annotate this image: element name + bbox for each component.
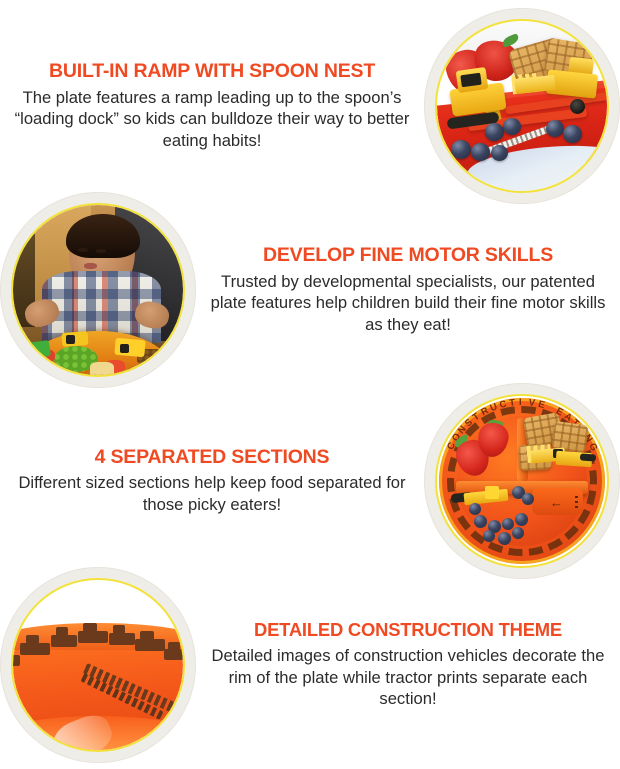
bulldozer-window-icon (460, 72, 481, 87)
scene-plate-rim (13, 580, 183, 750)
construction-vehicle-icon (109, 633, 135, 645)
construction-vehicle-icon (78, 631, 108, 643)
blueberry-icon (502, 518, 514, 530)
child-eating-photo (0, 192, 196, 388)
feature-headline: DEVELOP FINE MOTOR SKILLS (202, 245, 614, 267)
plate-brand-letter: C (498, 398, 508, 411)
scene-ramp (437, 21, 607, 191)
photo-image (13, 205, 183, 375)
blueberry-icon (512, 527, 524, 539)
plate-rim-photo (0, 567, 196, 763)
blueberry-icon (522, 493, 534, 505)
dots-icon (575, 495, 578, 508)
plate-ramp-photo (424, 8, 620, 204)
blueberry-icon (546, 120, 564, 137)
blueberry-icon (485, 123, 504, 141)
construction-vehicle-icon (164, 649, 183, 660)
photo-yellow-ring (435, 19, 609, 193)
feature-copy: DEVELOP FINE MOTOR SKILLS Trusted by dev… (196, 245, 620, 336)
arrow-icon: ← (550, 496, 563, 509)
photo-yellow-ring (11, 578, 185, 752)
feature-headline: DETAILED CONSTRUCTION THEME (202, 620, 614, 641)
feature-headline: 4 SEPARATED SECTIONS (6, 447, 418, 469)
infographic-root: BUILT-IN RAMP WITH SPOON NEST The plate … (0, 0, 620, 769)
toy-vehicle-icon (120, 344, 129, 353)
toy-vehicle-icon (114, 338, 145, 358)
full-plate-photo: CONSTRUCTIVE EATING ← (424, 383, 620, 579)
construction-vehicle-row (13, 621, 183, 641)
excavator-arm-icon (580, 453, 596, 461)
feature-body: The plate features a ramp leading up to … (6, 87, 418, 152)
utensil-cab-icon (485, 486, 499, 499)
construction-vehicle-icon (135, 639, 165, 651)
child-eye (78, 248, 88, 252)
feature-construction-theme: DETAILED CONSTRUCTION THEME Detailed ima… (0, 565, 620, 765)
photo-image (437, 21, 607, 191)
plate-brand-letter: I (519, 397, 523, 408)
plate-brand-letter: V (528, 397, 537, 409)
toy-vehicle-icon (66, 335, 75, 344)
scene-child (13, 205, 183, 375)
blueberry-icon (563, 125, 582, 143)
feature-copy: BUILT-IN RAMP WITH SPOON NEST The plate … (0, 61, 424, 152)
photo-image: CONSTRUCTIVE EATING ← (437, 396, 607, 566)
construction-vehicle-icon (13, 655, 20, 666)
construction-vehicle-icon (20, 643, 50, 655)
blueberry-icon (451, 140, 471, 159)
feature-separated-sections: 4 SEPARATED SECTIONS Different sized sec… (0, 383, 620, 579)
feature-fine-motor-skills: DEVELOP FINE MOTOR SKILLS Trusted by dev… (0, 190, 620, 390)
feature-ramp-spoon-nest: BUILT-IN RAMP WITH SPOON NEST The plate … (0, 8, 620, 204)
scene-plate: CONSTRUCTIVE EATING ← (437, 396, 607, 566)
photo-yellow-ring: CONSTRUCTIVE EATING ← (435, 394, 609, 568)
feature-copy: DETAILED CONSTRUCTION THEME Detailed ima… (196, 620, 620, 709)
construction-vehicle-icon (51, 635, 77, 647)
feature-body: Detailed images of construction vehicles… (202, 645, 614, 710)
plate-brand-letter: T (509, 397, 517, 409)
feature-copy: 4 SEPARATED SECTIONS Different sized sec… (0, 447, 424, 516)
feature-headline: BUILT-IN RAMP WITH SPOON NEST (6, 61, 418, 83)
food-item (90, 362, 114, 375)
feature-body: Trusted by developmental specialists, ou… (202, 271, 614, 336)
truck-wheel-icon (570, 99, 585, 114)
feature-body: Different sized sections help keep food … (6, 472, 418, 515)
photo-yellow-ring (11, 203, 185, 377)
child-mouth (84, 263, 97, 269)
plate-brand-letter: E (537, 399, 547, 411)
photo-image (13, 580, 183, 750)
